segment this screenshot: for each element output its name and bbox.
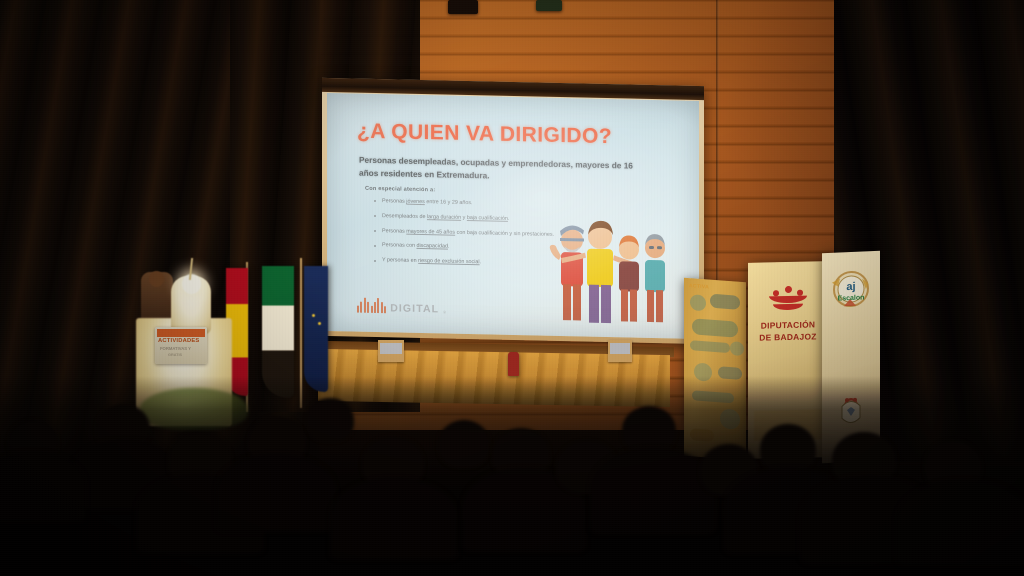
logo-bar: [384, 306, 386, 313]
bullet-text-post: .: [448, 244, 450, 250]
banner-graphic: [690, 340, 730, 353]
slide-brand-logo: DIGITAL ®: [357, 298, 446, 315]
audience-head: [760, 424, 816, 474]
table-red-object: [508, 352, 519, 376]
logo-trademark-icon: ®: [443, 309, 446, 314]
bullet-text-link: jóvenes: [406, 199, 425, 205]
logo-bar: [381, 302, 383, 313]
bullet-text-post: .: [480, 260, 482, 266]
bullet-text-pre: Desempleados de: [382, 213, 427, 220]
bullet-text-pre: Y personas en: [382, 257, 418, 264]
bullet-text-pre: Personas: [382, 228, 406, 235]
slide-lead-paragraph: Personas desempleadas, ocupadas y empren…: [359, 154, 644, 186]
bullet-text-link: larga duración: [427, 214, 461, 221]
projection-screen-frame: ¿A QUIEN VA DIRIGIDO? Personas desemplea…: [322, 78, 704, 344]
audience-shoulders: [216, 454, 336, 532]
ceiling-light-icon: [536, 0, 562, 11]
european-union-flag: [304, 266, 328, 392]
logo-wordmark: DIGITAL: [390, 303, 439, 315]
slide-subheading: Con especial atención a:: [365, 186, 435, 194]
person-assistant-head: [149, 271, 164, 287]
logo-dot: [773, 290, 779, 296]
eu-star-icon: [312, 314, 315, 317]
ceiling-speaker-icon: [448, 0, 478, 14]
audience-head: [438, 420, 490, 468]
easel-card: [610, 343, 630, 354]
audience-head: [622, 406, 676, 454]
podium-sign-band: [157, 329, 205, 337]
logo-arc: [769, 296, 807, 304]
bullet-text-post: con baja cualificación y sin prestacione…: [455, 229, 554, 237]
banner-left-header: ACTIVA: [689, 283, 709, 290]
podium-sign: ACTIVIDADES FORMATIVAS Y GRATIS: [155, 327, 207, 364]
person-speaker-head: [182, 274, 201, 294]
logo-bar: [367, 302, 369, 313]
audience-shoulders: [590, 448, 716, 534]
logo-arc: [773, 304, 803, 311]
figure-young-woman: [619, 235, 639, 321]
audience-head: [306, 398, 354, 442]
table-easel-right: [608, 340, 632, 362]
bullet-text-post: entre 16 y 29 años.: [425, 199, 473, 206]
banner-graphic: [730, 341, 744, 356]
logo-bar: [364, 298, 366, 313]
bullet-text-post: .: [508, 216, 510, 222]
logo-dot: [785, 286, 792, 293]
bullet-text-link: discapacidad: [416, 243, 447, 250]
eu-star-icon: [318, 322, 321, 325]
logo-bars-icon: [357, 298, 386, 314]
logo-bar: [374, 302, 376, 313]
slide-title: ¿A QUIEN VA DIRIGIDO?: [357, 120, 612, 150]
bullet-text-pre: Personas: [382, 198, 406, 205]
diputacion-line1: DIPUTACIÓN: [748, 319, 828, 331]
diputacion-line2: DE BADAJOZ: [748, 331, 828, 343]
seal-subtext: Escalon: [838, 294, 865, 302]
logo-bar: [357, 306, 359, 313]
logo-bar: [371, 306, 373, 313]
figure-older-man: [550, 225, 584, 321]
podium-sign-line2: FORMATIVAS Y: [160, 346, 204, 351]
banner-graphic: [710, 294, 740, 310]
audience-shoulders: [330, 478, 458, 560]
escalon-seal-icon: aj Escalon: [828, 265, 874, 313]
logo-bar: [377, 298, 379, 313]
bullet-text-pre: Personas con: [382, 243, 416, 250]
people-illustration: [541, 208, 691, 331]
podium-sign-line1: ACTIVIDADES: [158, 338, 204, 344]
bullet-text-link2: baja cualificación: [467, 215, 508, 222]
banner-graphic: [692, 318, 738, 337]
audience-shoulders: [896, 480, 1024, 566]
bullet-text-link: mayores de 45 años: [406, 228, 455, 235]
logo-bar: [360, 302, 362, 313]
table-easel-left: [378, 340, 404, 362]
figure-older-woman: [645, 234, 665, 322]
seal-text: aj: [846, 281, 855, 293]
bullet-text-link: riesgo de exclusión social: [418, 258, 479, 265]
podium-sign-line3: GRATIS: [168, 353, 204, 357]
easel-card: [380, 343, 402, 354]
logo-dot: [797, 290, 803, 296]
projected-slide: ¿A QUIEN VA DIRIGIDO? Personas desemplea…: [327, 93, 699, 339]
banner-graphic: [690, 294, 706, 311]
audience-shoulders: [0, 452, 86, 522]
diputacion-logo-icon: [766, 286, 810, 313]
photo-scene: ¿A QUIEN VA DIRIGIDO? Personas desemplea…: [0, 0, 1024, 576]
